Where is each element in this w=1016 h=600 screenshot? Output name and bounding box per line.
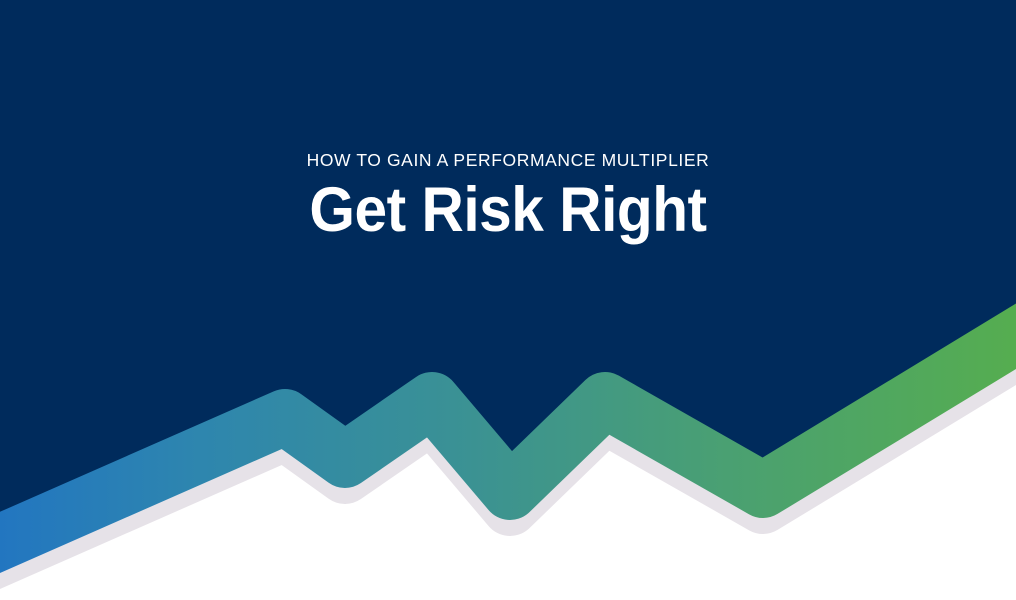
zigzag-performance-graphic <box>0 0 1016 600</box>
slide-canvas: HOW TO GAIN A PERFORMANCE MULTIPLIER Get… <box>0 0 1016 600</box>
